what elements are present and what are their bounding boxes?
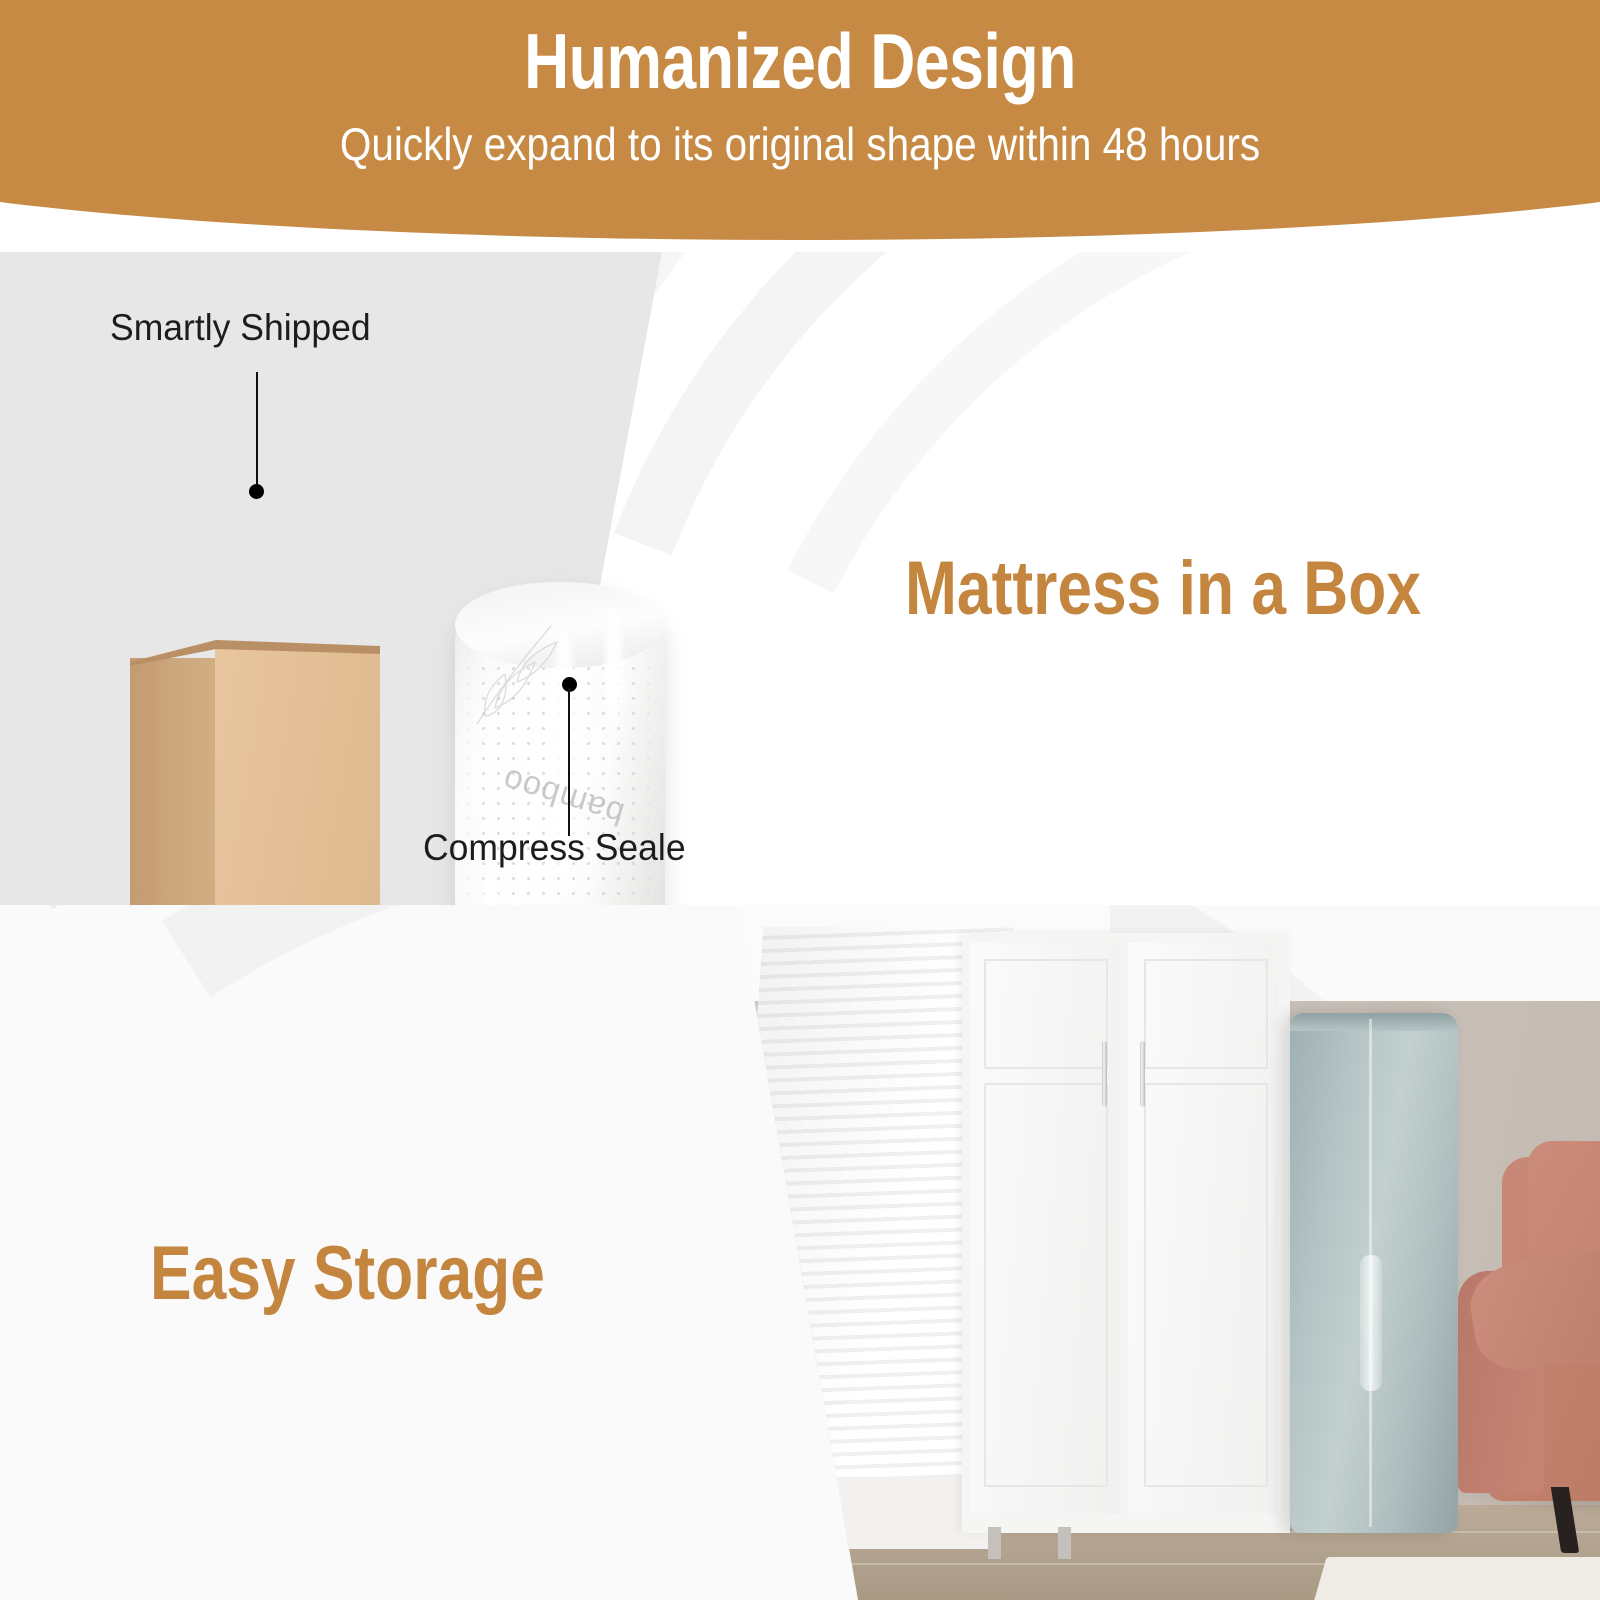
callout-label-smartly-shipped: Smartly Shipped [110,306,371,350]
easy-storage-section: Easy Storage [0,905,1600,1600]
callout-label-compress-seale: Compress Seale [423,826,686,870]
bamboo-leaf-art-top [465,604,585,734]
bamboo-leaf-art-bottom [567,876,677,907]
white-wardrobe [962,933,1290,1533]
wardrobe-panel-lower-left [984,1083,1108,1487]
folded-mattress-top-edge [1290,1013,1458,1031]
floor-rug [1313,1557,1600,1600]
wardrobe-panel-upper-right [1144,959,1268,1069]
leader-dot-smartly-shipped [249,484,264,499]
carton-front-face [215,646,380,907]
wardrobe-panel-upper-left [984,959,1108,1069]
banner-subtitle: Quickly expand to its original shape wit… [96,116,1504,172]
wardrobe-door-left [970,943,1120,1513]
wardrobe-leg-right [1058,1527,1071,1559]
wardrobe-leg-left [988,1527,1001,1559]
shipping-carton [130,640,380,907]
wardrobe-handle-right[interactable] [1140,1041,1145,1107]
heading-easy-storage: Easy Storage [150,1233,545,1315]
folded-mattress [1290,1013,1458,1533]
carton-side-face [130,658,216,907]
header-banner: Humanized Design Quickly expand to its o… [0,0,1600,260]
folded-mattress-handle [1360,1255,1382,1391]
heading-mattress-in-a-box: Mattress in a Box [905,548,1421,630]
banner-title: Humanized Design [160,18,1440,104]
plastic-crease-2 [605,606,623,726]
product-infographic: Humanized Design Quickly expand to its o… [0,0,1600,1600]
wardrobe-door-right [1128,943,1278,1513]
wardrobe-handle-left[interactable] [1102,1041,1107,1107]
leader-line-compress-seale [568,688,570,836]
mattress-in-a-box-section: Smartly Shipped bamboo [0,252,1600,907]
leader-line-smartly-shipped [256,372,258,490]
wardrobe-panel-lower-right [1144,1083,1268,1487]
